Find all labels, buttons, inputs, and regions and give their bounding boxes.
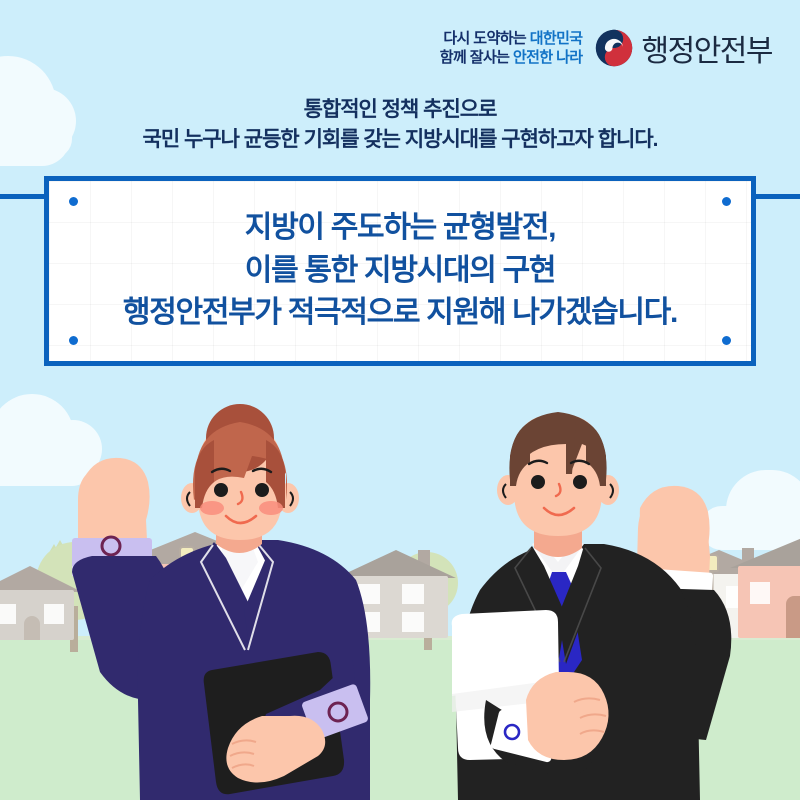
poster-canvas: 다시 도약하는 대한민국 함께 잘사는 안전한 나라 행정안전부 통합적인 정책… [0, 0, 800, 800]
man-official [452, 412, 732, 800]
banner-line-1: 지방이 주도하는 균형발전, [123, 207, 677, 250]
banner-line-3: 행정안전부가 적극적으로 지원해 나가겠습니다. [123, 292, 677, 335]
woman-official [72, 404, 370, 800]
banner-line-2: 이를 통한 지방시대의 구현 [123, 250, 677, 293]
people-illustration [0, 0, 800, 800]
banner-headline: 지방이 주도하는 균형발전, 이를 통한 지방시대의 구현 행정안전부가 적극적… [123, 207, 677, 335]
